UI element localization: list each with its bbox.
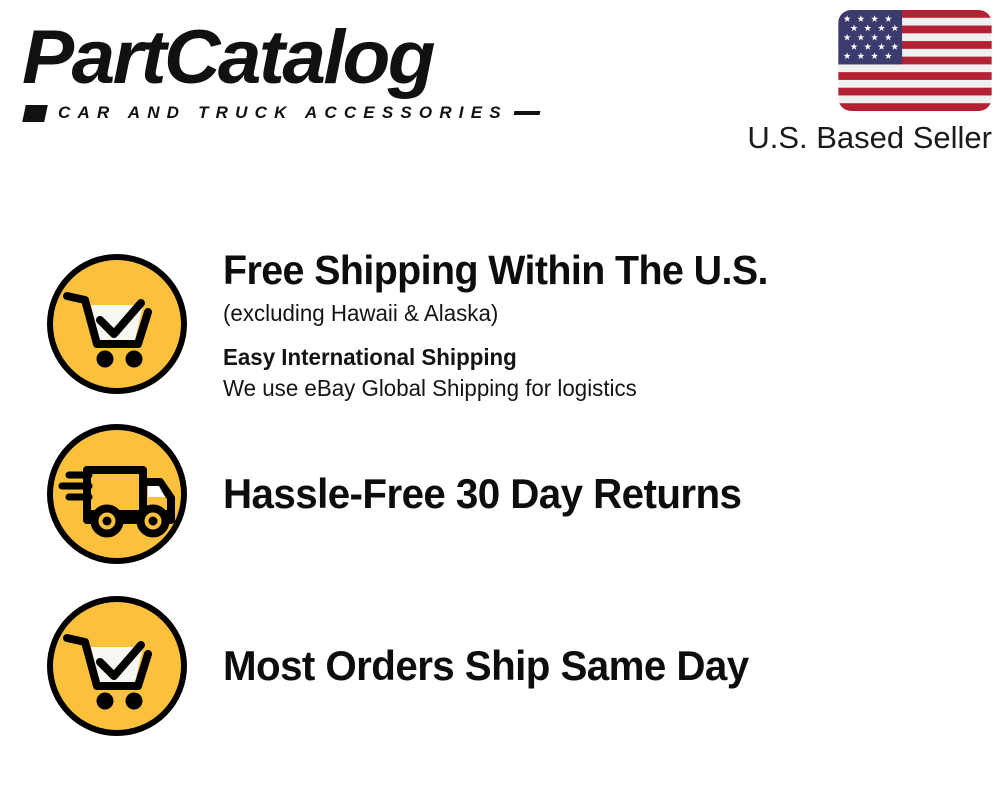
seller-label: U.S. Based Seller bbox=[722, 120, 992, 156]
brand-wordmark: PartCatalog bbox=[22, 18, 433, 98]
shopping-cart-check-icon bbox=[45, 594, 189, 738]
brand-tagline-mark-icon bbox=[22, 105, 48, 122]
feature-title: Free Shipping Within The U.S. bbox=[223, 246, 950, 294]
feature-title: Most Orders Ship Same Day bbox=[223, 642, 950, 690]
feature-subtitle-detail: We use eBay Global Shipping for logistic… bbox=[223, 373, 957, 403]
shopping-cart-check-icon bbox=[45, 252, 189, 396]
brand-tagline: CAR AND TRUCK ACCESSORIES bbox=[58, 103, 508, 123]
feature-text: Free Shipping Within The U.S. (excluding… bbox=[223, 246, 1000, 403]
feature-row: Free Shipping Within The U.S. (excluding… bbox=[0, 252, 1000, 396]
brand-tagline-rule-icon bbox=[513, 111, 540, 115]
feature-subtitle: (excluding Hawaii & Alaska) bbox=[223, 298, 957, 328]
feature-row: Most Orders Ship Same Day bbox=[0, 594, 1000, 738]
seller-badge: U.S. Based Seller bbox=[722, 10, 992, 156]
feature-text: Hassle-Free 30 Day Returns bbox=[223, 470, 1000, 518]
brand-tagline-row: CAR AND TRUCK ACCESSORIES bbox=[24, 103, 540, 123]
feature-text: Most Orders Ship Same Day bbox=[223, 642, 1000, 690]
us-flag-icon bbox=[838, 10, 992, 111]
brand-logo: PartCatalog CAR AND TRUCK ACCESSORIES bbox=[22, 18, 492, 123]
page-header: PartCatalog CAR AND TRUCK ACCESSORIES bbox=[0, 0, 1000, 180]
feature-title: Hassle-Free 30 Day Returns bbox=[223, 470, 950, 518]
feature-subtitle-strong: Easy International Shipping bbox=[223, 342, 957, 372]
delivery-truck-icon bbox=[45, 422, 189, 566]
feature-row: Hassle-Free 30 Day Returns bbox=[0, 422, 1000, 566]
